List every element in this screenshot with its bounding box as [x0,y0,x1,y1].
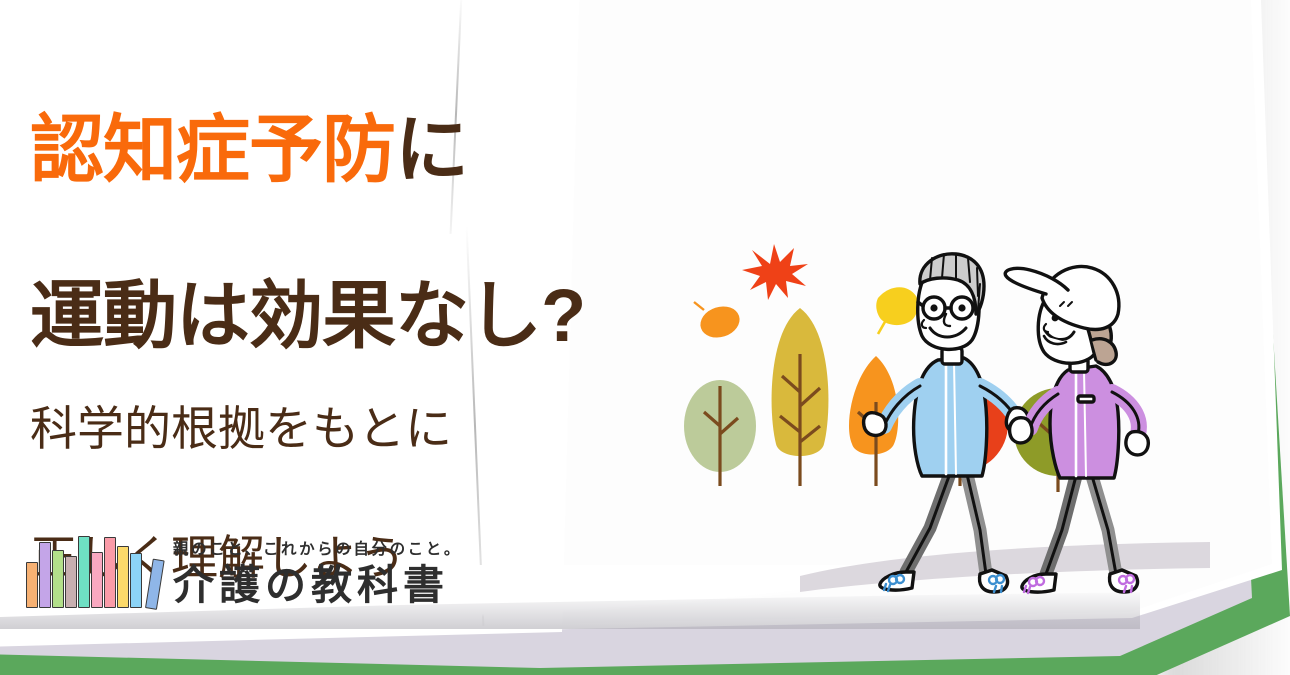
tree-gold-tall [772,308,829,486]
books-icon [26,534,157,608]
logo-text-block: 親のこと、これからの自分のこと。 介護の教科書 [173,537,462,608]
ginkgo-leaf-icon [876,287,918,334]
book-spine [91,552,103,608]
book-spine [65,556,77,608]
subhead-line-1: 科学的根拠をもとに [30,397,452,461]
book-spine [52,550,64,608]
illustration-elderly-couple-walking [680,236,1220,596]
book-spine [145,559,165,610]
headline-line-1: 認知症予防に [30,109,585,192]
book-spine [26,562,38,608]
headline-line1-rest: に [395,108,468,191]
banner-root: 認知症予防に 運動は効果なし? 科学的根拠をもとに 正しく理解しよう 親のこと、… [0,0,1290,675]
book-spine [39,542,51,608]
book-spine [104,537,116,608]
logo-tagline: 親のこと、これからの自分のこと。 [173,537,462,559]
logo-name: 介護の教科書 [173,565,462,606]
book-spine [117,546,129,608]
maple-leaf-icon [742,244,808,300]
headline-highlight: 認知症予防 [30,108,395,191]
brand-logo[interactable]: 親のこと、これからの自分のこと。 介護の教科書 [26,534,462,608]
book-spine [130,553,142,608]
oval-leaf-icon [694,302,744,343]
tree-sage-oval [684,380,756,486]
book-spine [78,536,90,608]
